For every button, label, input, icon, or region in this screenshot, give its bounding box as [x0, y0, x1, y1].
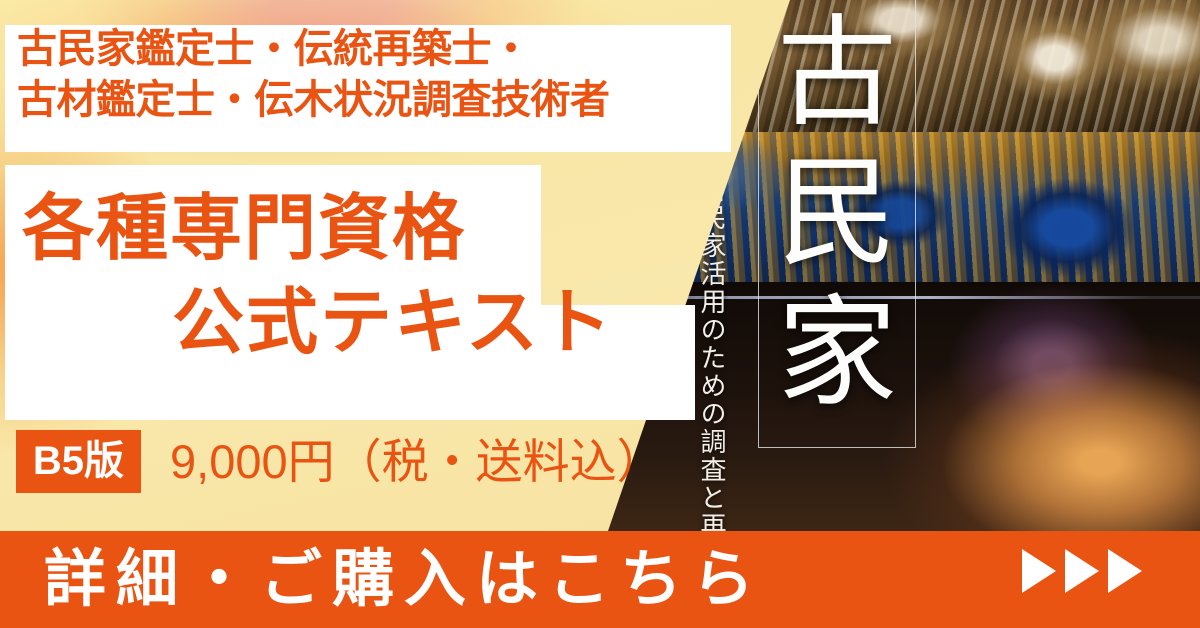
cover-title-char-1: 古	[758, 4, 916, 144]
cta-bar[interactable]: 詳細・ご購入はこちら	[0, 531, 1200, 628]
triangle-right-icon	[1022, 549, 1056, 593]
size-badge: B5版	[16, 430, 141, 493]
qualifications-line-2: 古材鑑定士・伝木状況調査技術者	[17, 75, 610, 126]
headline-line-2: 公式テキスト	[172, 280, 614, 366]
qualifications-line-1: 古民家鑑定士・伝統再築士・	[17, 24, 610, 75]
qualifications-text: 古民家鑑定士・伝統再築士・ 古材鑑定士・伝木状況調査技術者	[17, 24, 610, 126]
cover-title-char-3: 家	[758, 284, 916, 424]
cta-label: 詳細・ご購入はこちら	[44, 544, 764, 616]
triangle-right-icon	[1065, 549, 1099, 593]
cta-arrow-group	[1022, 549, 1142, 593]
cover-title-vertical: 古 民 家	[758, 4, 916, 424]
headline-line-1: 各種専門資格	[22, 186, 466, 272]
promo-banner[interactable]: 古 民 家 伝統構法、古民家活用のための調査と再生の 古民家鑑定士・伝統再築士・…	[0, 0, 1200, 628]
price-text: 9,000円（税・送料込）	[170, 432, 664, 492]
triangle-right-icon	[1108, 549, 1142, 593]
cover-title-char-2: 民	[758, 144, 916, 284]
